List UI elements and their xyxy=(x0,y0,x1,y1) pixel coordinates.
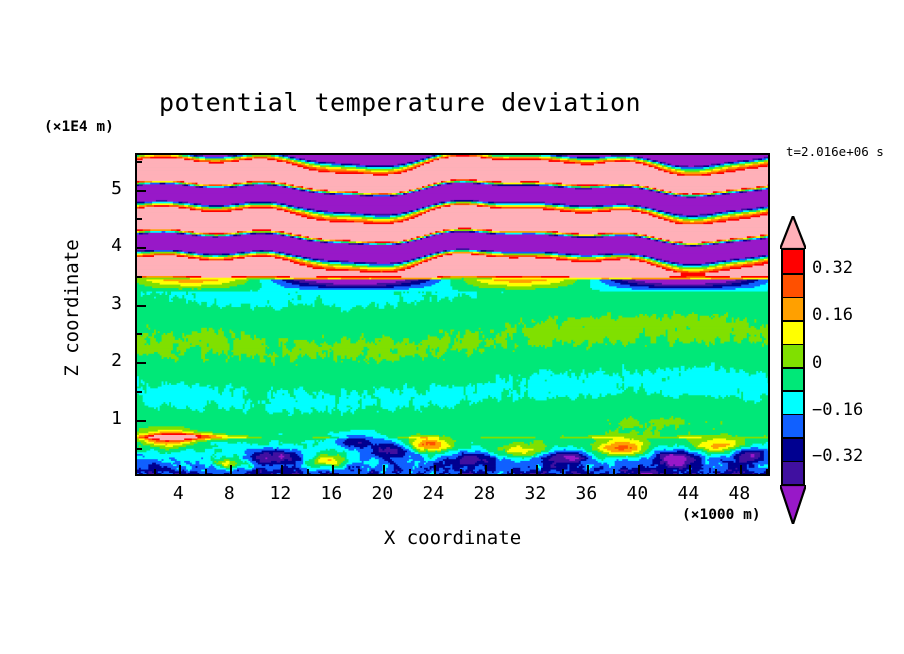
colorbar-under-arrow xyxy=(780,485,806,524)
colorbar-band xyxy=(783,250,803,273)
colorbar-band xyxy=(783,437,803,460)
x-axis-tick-label: 32 xyxy=(512,483,558,504)
x-axis-tick xyxy=(460,469,462,474)
contour-field xyxy=(137,155,768,474)
x-axis-tick xyxy=(587,465,589,474)
x-axis-tick xyxy=(562,469,564,474)
y-axis-tick xyxy=(137,305,146,307)
x-axis-tick-label: 48 xyxy=(716,483,762,504)
z-axis-units-label: (×1E4 m) xyxy=(44,119,114,135)
x-axis-tick xyxy=(256,469,258,474)
x-axis-tick xyxy=(154,469,156,474)
colorbar-band xyxy=(783,367,803,390)
colorbar-band xyxy=(783,273,803,296)
x-axis-tick-label: 28 xyxy=(461,483,507,504)
x-axis-tick xyxy=(766,469,768,474)
y-axis-tick-label: 2 xyxy=(98,350,122,371)
x-axis-tick-label: 8 xyxy=(206,483,252,504)
x-axis-tick xyxy=(485,465,487,474)
x-axis-tick xyxy=(536,465,538,474)
colorbar-band-divider xyxy=(783,461,803,463)
y-axis-tick xyxy=(137,362,146,364)
x-axis-tick xyxy=(383,465,385,474)
y-axis-tick-label: 1 xyxy=(98,408,122,429)
colorbar-band-divider xyxy=(783,320,803,322)
x-axis-tick-label: 40 xyxy=(614,483,660,504)
colorbar-band xyxy=(783,461,803,484)
y-axis-tick xyxy=(137,218,142,220)
colorbar-over-arrow xyxy=(780,216,806,249)
colorbar-band-divider xyxy=(783,390,803,392)
y-axis-tick xyxy=(137,391,142,393)
y-axis-tick xyxy=(137,448,142,450)
y-axis-tick xyxy=(137,247,146,249)
colorbar-bands xyxy=(781,248,805,486)
x-axis-tick xyxy=(689,465,691,474)
y-axis-title: Z coordinate xyxy=(61,208,83,408)
x-axis-tick-label: 44 xyxy=(665,483,711,504)
y-axis-tick xyxy=(137,333,142,335)
x-axis-tick-label: 36 xyxy=(563,483,609,504)
colorbar-tick-label: 0.16 xyxy=(812,305,853,325)
x-axis-tick xyxy=(715,469,717,474)
timestamp-annotation: t=2.016e+06 s xyxy=(786,144,884,159)
y-axis-tick xyxy=(137,276,142,278)
colorbar-band-divider xyxy=(783,344,803,346)
x-axis-tick xyxy=(332,465,334,474)
y-axis-tick xyxy=(137,190,146,192)
figure-canvas: potential temperature deviation (×1E4 m)… xyxy=(0,0,904,654)
x-axis-tick xyxy=(511,469,513,474)
y-axis-tick xyxy=(137,420,146,422)
x-axis-tick-label: 24 xyxy=(410,483,456,504)
colorbar-band xyxy=(783,390,803,413)
colorbar-band-divider xyxy=(783,273,803,275)
x-axis-tick xyxy=(307,469,309,474)
colorbar xyxy=(779,216,809,524)
x-axis-title: X coordinate xyxy=(135,527,770,549)
x-axis-tick xyxy=(638,465,640,474)
x-axis-tick-label: 4 xyxy=(155,483,201,504)
colorbar-band xyxy=(783,297,803,320)
page-title: potential temperature deviation xyxy=(0,88,800,117)
x-axis-tick xyxy=(179,465,181,474)
x-axis-tick xyxy=(205,469,207,474)
x-axis-tick xyxy=(358,469,360,474)
y-axis-tick-label: 5 xyxy=(98,178,122,199)
y-axis-tick xyxy=(137,161,142,163)
colorbar-band xyxy=(783,344,803,367)
colorbar-tick-label: 0 xyxy=(812,353,822,373)
y-axis-tick-label: 3 xyxy=(98,293,122,314)
x-axis-tick-label: 12 xyxy=(257,483,303,504)
colorbar-band-divider xyxy=(783,367,803,369)
colorbar-band-divider xyxy=(783,437,803,439)
x-axis-tick xyxy=(664,469,666,474)
colorbar-tick-label: −0.32 xyxy=(812,446,863,466)
colorbar-tick-label: 0.32 xyxy=(812,258,853,278)
x-axis-tick xyxy=(613,469,615,474)
contour-plot-area xyxy=(135,153,770,476)
colorbar-band xyxy=(783,414,803,437)
y-axis-tick-label: 4 xyxy=(98,235,122,256)
colorbar-band-divider xyxy=(783,414,803,416)
x-axis-tick xyxy=(230,465,232,474)
colorbar-band-divider xyxy=(783,297,803,299)
x-axis-tick xyxy=(740,465,742,474)
x-axis-tick xyxy=(409,469,411,474)
colorbar-tick-label: −0.16 xyxy=(812,400,863,420)
x-axis-units-label: (×1000 m) xyxy=(682,507,761,523)
x-axis-tick-label: 20 xyxy=(359,483,405,504)
colorbar-band xyxy=(783,320,803,343)
x-axis-tick-label: 16 xyxy=(308,483,354,504)
x-axis-tick xyxy=(281,465,283,474)
x-axis-tick xyxy=(434,465,436,474)
